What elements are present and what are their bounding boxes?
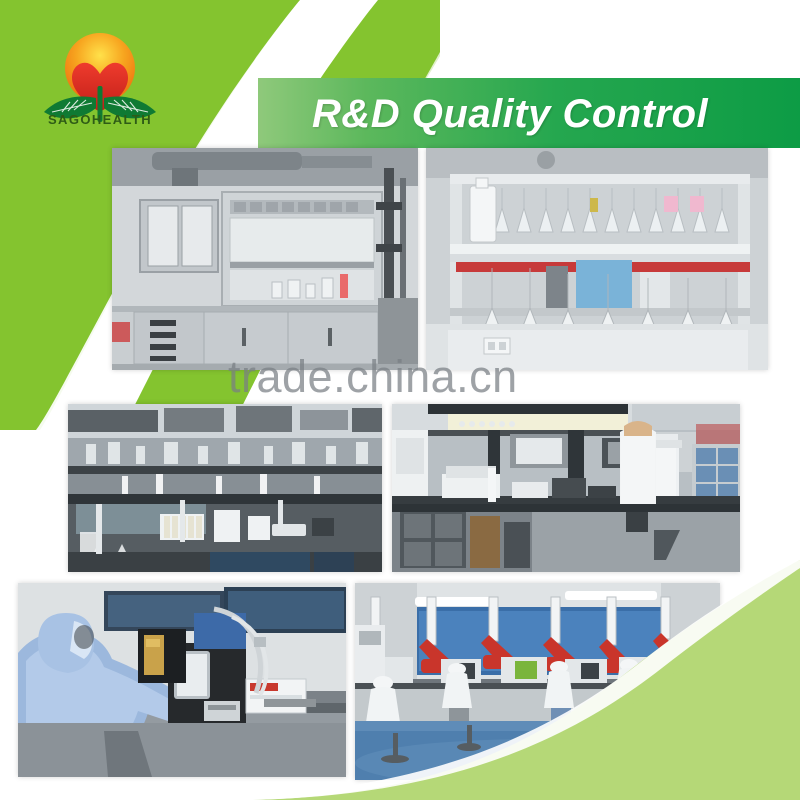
photo-fume-hood-lab (112, 148, 418, 370)
page-title: R&D Quality Control (312, 86, 782, 142)
photo-volumetric-flask-rack (426, 148, 768, 370)
decor-bottom-right-swoosh (250, 560, 800, 800)
brand-name-label: SAGOHEALTH (30, 112, 170, 127)
watermark-text: trade.china.cn (228, 352, 578, 402)
photo-lab-benches-glassware (68, 404, 382, 572)
photo-technician-weighing-station (392, 404, 740, 572)
poster-canvas: SAGOHEALTH R&D Quality Control (0, 0, 800, 800)
